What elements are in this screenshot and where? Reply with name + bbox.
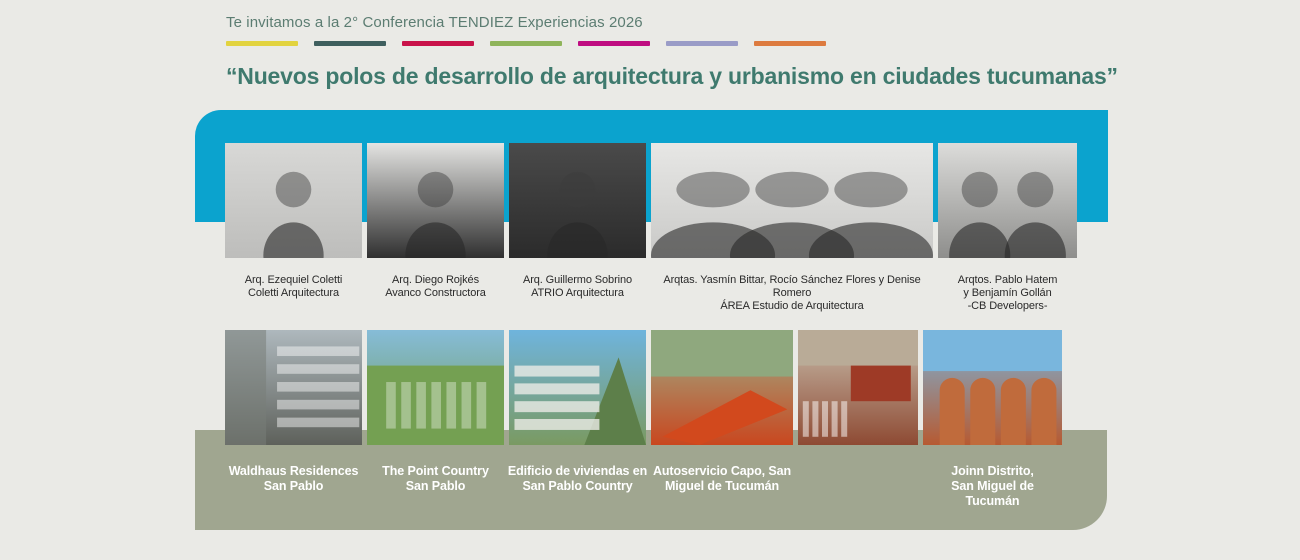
- speaker-photo[interactable]: [651, 143, 933, 258]
- speaker-card[interactable]: Arqtos. Pablo Hatem y Benjamín Gollán -C…: [938, 143, 1077, 313]
- speaker-caption: Arqtos. Pablo Hatem y Benjamín Gollán -C…: [908, 274, 1108, 313]
- portrait-two-men-geometric-backdrop-image: [938, 143, 1077, 258]
- project-card[interactable]: Edificio de viviendas en San Pablo Count…: [509, 330, 646, 494]
- project-photo[interactable]: [923, 330, 1062, 445]
- portrait-man-black-shirt-logo-wall-image: [367, 143, 504, 258]
- speaker-photo[interactable]: [367, 143, 504, 258]
- speakers-row: Arq. Ezequiel Coletti Coletti Arquitectu…: [225, 143, 1082, 313]
- color-rule-segment-3: [402, 41, 474, 46]
- portrait-three-women-studio-image: [651, 143, 933, 258]
- color-rule-segment-5: [578, 41, 650, 46]
- color-rule-segment-7: [754, 41, 826, 46]
- modern-residential-building-curved-balconies-image: [225, 330, 362, 445]
- project-card[interactable]: Waldhaus Residences San Pablo: [225, 330, 362, 494]
- color-rule-segment-4: [490, 41, 562, 46]
- project-caption: Autoservicio Capo, San Miguel de Tucumán: [651, 464, 793, 494]
- project-card[interactable]: Autoservicio Capo, San Miguel de Tucumán: [651, 330, 793, 494]
- project-caption: Edificio de viviendas en San Pablo Count…: [478, 464, 678, 494]
- portrait-older-man-dark-suit-image: [509, 143, 646, 258]
- project-caption: Waldhaus Residences San Pablo: [225, 464, 362, 494]
- color-rule-segment-2: [314, 41, 386, 46]
- color-rule-segment-1: [226, 41, 298, 46]
- speaker-card[interactable]: Arq. Guillermo Sobrino ATRIO Arquitectur…: [509, 143, 646, 300]
- speaker-photo[interactable]: [509, 143, 646, 258]
- projects-row: Waldhaus Residences San PabloThe Point C…: [225, 330, 1067, 509]
- project-photo[interactable]: [225, 330, 362, 445]
- page-title: “Nuevos polos de desarrollo de arquitect…: [226, 63, 1086, 90]
- apartment-building-mountain-backdrop-image: [509, 330, 646, 445]
- project-photo[interactable]: [651, 330, 793, 445]
- supermarket-interior-shelves-image: [798, 330, 918, 445]
- speaker-caption: Arqtas. Yasmín Bittar, Rocío Sánchez Flo…: [651, 274, 933, 313]
- project-photo[interactable]: [798, 330, 918, 445]
- terracotta-arched-mixed-use-building-image: [923, 330, 1062, 445]
- project-card[interactable]: [798, 330, 918, 445]
- page-kicker: Te invitamos a la 2° Conferencia TENDIEZ…: [226, 14, 1086, 31]
- portrait-bearded-man-vest-outdoors-image: [225, 143, 362, 258]
- aerial-red-warehouse-supermarket-image: [651, 330, 793, 445]
- speaker-caption: Arq. Ezequiel Coletti Coletti Arquitectu…: [194, 274, 394, 300]
- project-photo[interactable]: [367, 330, 504, 445]
- speaker-photo[interactable]: [938, 143, 1077, 258]
- project-photo[interactable]: [509, 330, 646, 445]
- header: Te invitamos a la 2° Conferencia TENDIEZ…: [226, 14, 1086, 90]
- project-card[interactable]: Joinn Distrito, San Miguel de Tucumán: [923, 330, 1062, 509]
- speaker-card[interactable]: Arq. Ezequiel Coletti Coletti Arquitectu…: [225, 143, 362, 300]
- color-rule-row: [226, 41, 826, 46]
- speaker-photo[interactable]: [225, 143, 362, 258]
- project-caption: Joinn Distrito, San Miguel de Tucumán: [923, 464, 1062, 509]
- aerial-view-country-neighborhood-fields-image: [367, 330, 504, 445]
- color-rule-segment-6: [666, 41, 738, 46]
- speaker-card[interactable]: Arqtas. Yasmín Bittar, Rocío Sánchez Flo…: [651, 143, 933, 313]
- speaker-caption: Arq. Guillermo Sobrino ATRIO Arquitectur…: [478, 274, 678, 300]
